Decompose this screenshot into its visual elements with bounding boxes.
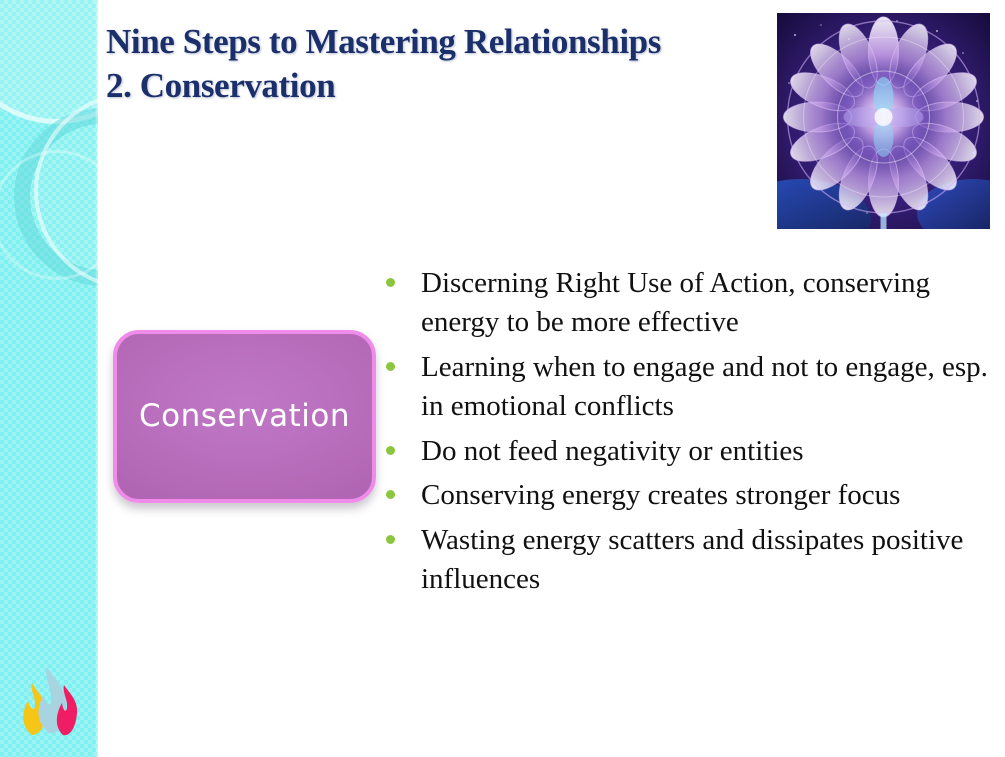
list-item: Wasting energy scatters and dissipates p… <box>386 521 996 600</box>
sidebar-edge-highlight <box>95 0 98 757</box>
list-item: Do not feed negativity or entities <box>386 432 996 471</box>
concept-box-conservation[interactable]: Conservation <box>113 330 376 503</box>
list-item: Conserving energy creates stronger focus <box>386 476 996 515</box>
bullet-text: Conserving energy creates stronger focus <box>421 476 996 515</box>
bullet-list: Discerning Right Use of Action, conservi… <box>386 264 996 605</box>
bullet-text: Learning when to engage and not to engag… <box>421 348 996 427</box>
bullet-dot-icon <box>386 362 395 371</box>
bullet-text: Discerning Right Use of Action, conservi… <box>421 264 996 343</box>
presentation-slide: Nine Steps to Mastering Relationships 2.… <box>0 0 1005 757</box>
decorative-ring-inner <box>0 150 98 280</box>
bullet-dot-icon <box>386 278 395 287</box>
sidebar-decoration <box>0 0 98 757</box>
bullet-dot-icon <box>386 535 395 544</box>
title-line-2: 2. Conservation <box>106 64 766 108</box>
concept-box-label: Conservation <box>139 401 350 432</box>
bullet-text: Wasting energy scatters and dissipates p… <box>421 521 996 600</box>
title-line-1: Nine Steps to Mastering Relationships <box>106 20 766 64</box>
bullet-text: Do not feed negativity or entities <box>421 432 996 471</box>
cosmic-mandala-image <box>777 13 990 229</box>
bullet-dot-icon <box>386 446 395 455</box>
list-item: Learning when to engage and not to engag… <box>386 348 996 427</box>
bullet-dot-icon <box>386 490 395 499</box>
triple-flame-logo <box>16 657 82 739</box>
page-title: Nine Steps to Mastering Relationships 2.… <box>106 20 766 108</box>
list-item: Discerning Right Use of Action, conservi… <box>386 264 996 343</box>
